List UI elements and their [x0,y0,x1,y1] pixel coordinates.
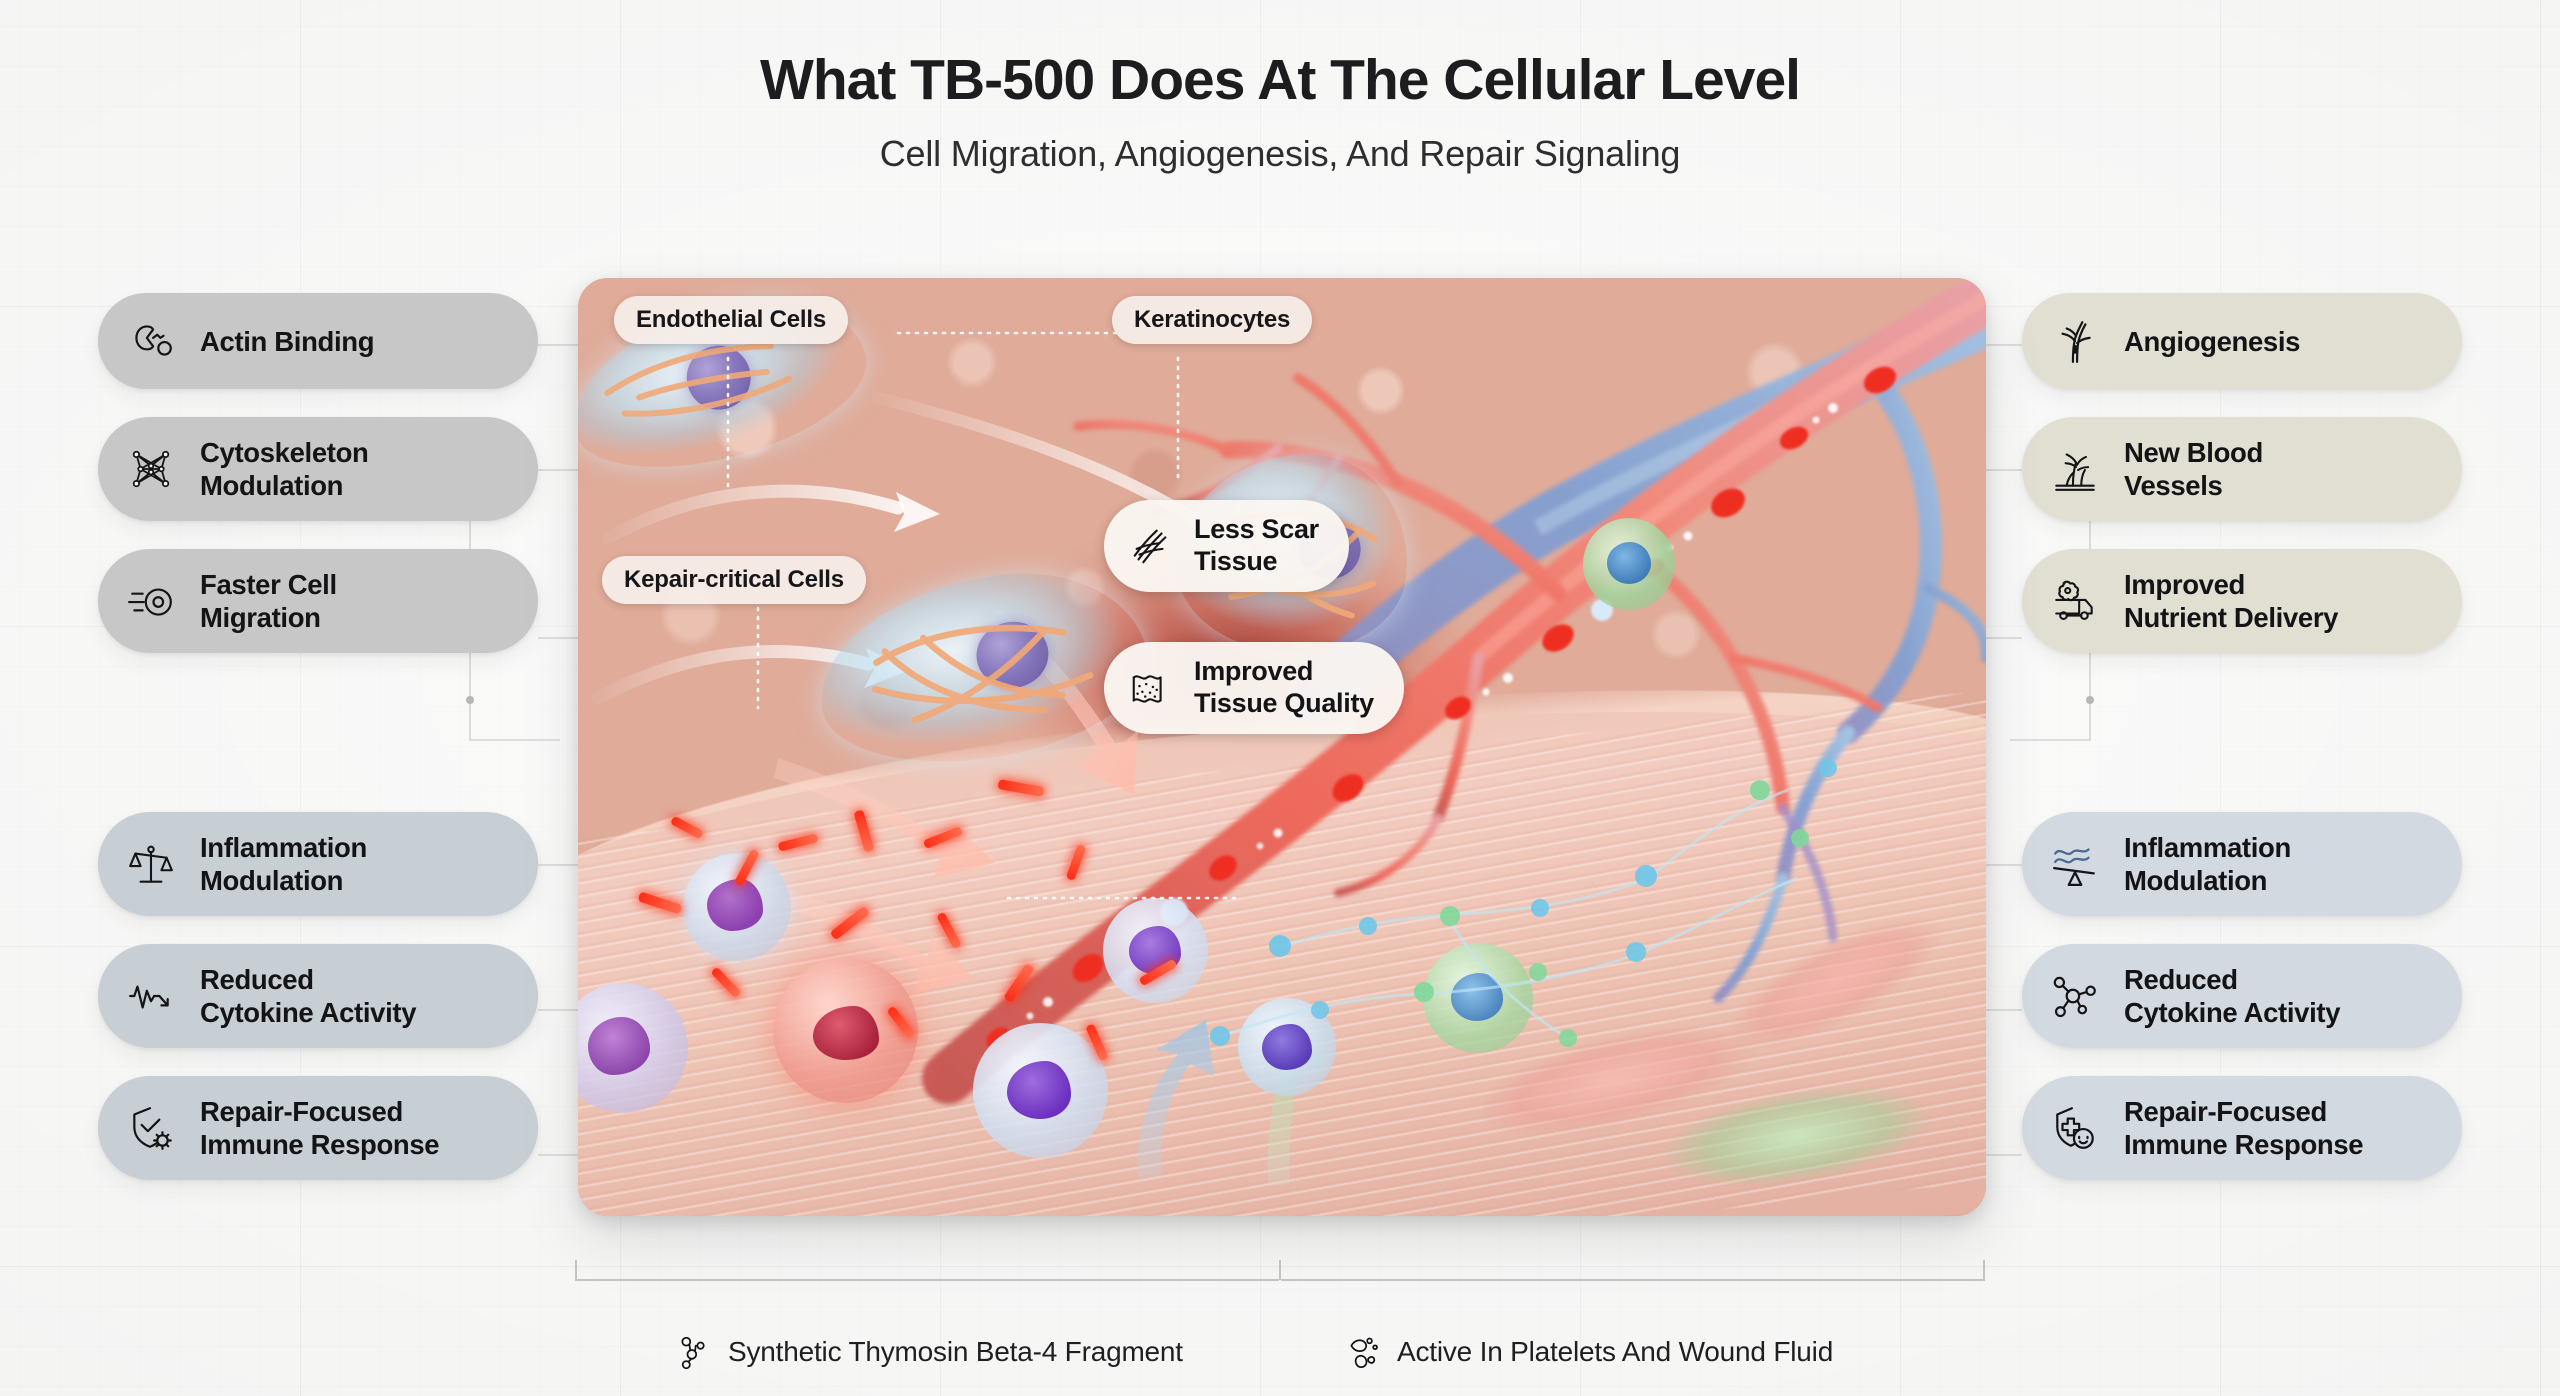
shield-plus-smile-icon [2048,1101,2102,1155]
label-repair-critical-cells: Kepair-critical Cells [602,556,866,604]
macrophage-1 [773,958,918,1103]
label-keratinocytes: Keratinocytes [1112,296,1312,344]
label-text: Endothelial Cells [636,306,826,334]
label-text: Kepair-critical Cells [624,566,844,594]
neutrophil-1 [683,853,791,961]
platelet-droplet-icon [1345,1333,1383,1371]
footer-item-synthetic-fragment: Synthetic Thymosin Beta-4 Fragment [676,1333,1183,1371]
right-column-top-group: Angiogenesis New Blood Vessels [2022,293,2462,653]
footer-brackets [0,1258,2560,1288]
scar-fibers-icon [1128,523,1174,569]
molecule-node-icon [2048,969,2102,1023]
pill-faster-cell-migration[interactable]: Faster Cell Migration [98,549,538,653]
footer-item-label: Active In Platelets And Wound Fluid [1397,1336,1833,1368]
pill-inflammation-modulation-right[interactable]: Inflammation Modulation [2022,812,2462,916]
pill-improved-nutrient-delivery[interactable]: Improved Nutrient Delivery [2022,549,2462,653]
nucleus-lobe [588,1017,650,1075]
callout-label: Improved Tissue Quality [1194,656,1374,720]
shield-check-gear-icon [124,1101,178,1155]
actin-binding-icon [124,314,178,368]
pill-cytoskeleton-modulation[interactable]: Cytoskeleton Modulation [98,417,538,521]
callout-improved-tissue-quality[interactable]: Improved Tissue Quality [1104,642,1404,734]
nutrient-delivery-truck-icon [2048,574,2102,628]
label-endothelial-cells: Endothelial Cells [614,296,848,344]
nucleus-lobe [707,879,763,931]
callout-label: Less Scar Tissue [1194,514,1319,578]
pill-label: Actin Binding [200,325,374,358]
pill-repair-focused-immune-response-left[interactable]: Repair-Focused Immune Response [98,1076,538,1180]
nucleus-lobe [1607,542,1651,584]
pill-label: Inflammation Modulation [2124,831,2291,897]
pill-repair-focused-immune-response-right[interactable]: Repair-Focused Immune Response [2022,1076,2462,1180]
cytoskeleton-network-icon [124,442,178,496]
nucleus-lobe [1451,973,1503,1021]
pill-label: Reduced Cytokine Activity [2124,963,2340,1029]
pill-label: Reduced Cytokine Activity [200,963,416,1029]
page-subtitle: Cell Migration, Angiogenesis, And Repair… [0,133,2560,175]
callout-less-scar-tissue[interactable]: Less Scar Tissue [1104,500,1349,592]
pill-new-blood-vessels[interactable]: New Blood Vessels [2022,417,2462,521]
page-title: What TB-500 Does At The Cellular Level [0,52,2560,109]
fibroblast-green-2 [1583,518,1675,610]
pill-angiogenesis[interactable]: Angiogenesis [2022,293,2462,389]
pill-actin-binding[interactable]: Actin Binding [98,293,538,389]
pill-label: Faster Cell Migration [200,568,337,634]
pill-label: Angiogenesis [2124,325,2300,358]
pill-label: Inflammation Modulation [200,831,367,897]
fast-cell-motion-icon [124,574,178,628]
header: What TB-500 Does At The Cellular Level C… [0,52,2560,175]
branching-vessel-icon [2048,314,2102,368]
cellular-illustration: Endothelial Cells Keratinocytes Kepair-c… [578,278,1986,1216]
fibroblast-green-1 [1423,943,1533,1053]
peptide-molecule-icon [676,1333,714,1371]
wave-balance-icon [2048,837,2102,891]
lymphocyte-1 [1238,998,1336,1096]
declining-pulse-icon [124,969,178,1023]
nucleus-lobe [1262,1024,1312,1070]
neutrophil-3 [973,1023,1108,1158]
right-column-bottom-group: Inflammation Modulation Reduced Cytokine… [2022,812,2462,1180]
footer-item-label: Synthetic Thymosin Beta-4 Fragment [728,1336,1183,1368]
nucleus-lobe [813,1006,879,1060]
pill-label: Improved Nutrient Delivery [2124,568,2338,634]
label-text: Keratinocytes [1134,306,1290,334]
pill-label: Repair-Focused Immune Response [200,1095,439,1161]
pill-label: Cytoskeleton Modulation [200,436,368,502]
nucleus-lobe [1007,1061,1071,1119]
pill-reduced-cytokine-activity-left[interactable]: Reduced Cytokine Activity [98,944,538,1048]
pill-reduced-cytokine-activity-right[interactable]: Reduced Cytokine Activity [2022,944,2462,1048]
left-column-bottom-group: Inflammation Modulation Reduced Cytokine… [98,812,538,1180]
new-vessel-sprout-icon [2048,442,2102,496]
left-column-top-group: Actin Binding Cytoskeleton Modulation Fa… [98,293,538,653]
pill-inflammation-modulation-left[interactable]: Inflammation Modulation [98,812,538,916]
pill-label: Repair-Focused Immune Response [2124,1095,2363,1161]
balance-scales-icon [124,837,178,891]
neutrophil-4 [1103,898,1208,1003]
tissue-layer-icon [1128,665,1174,711]
footer-item-active-in-platelets: Active In Platelets And Wound Fluid [1345,1333,1833,1371]
pill-label: New Blood Vessels [2124,436,2263,502]
